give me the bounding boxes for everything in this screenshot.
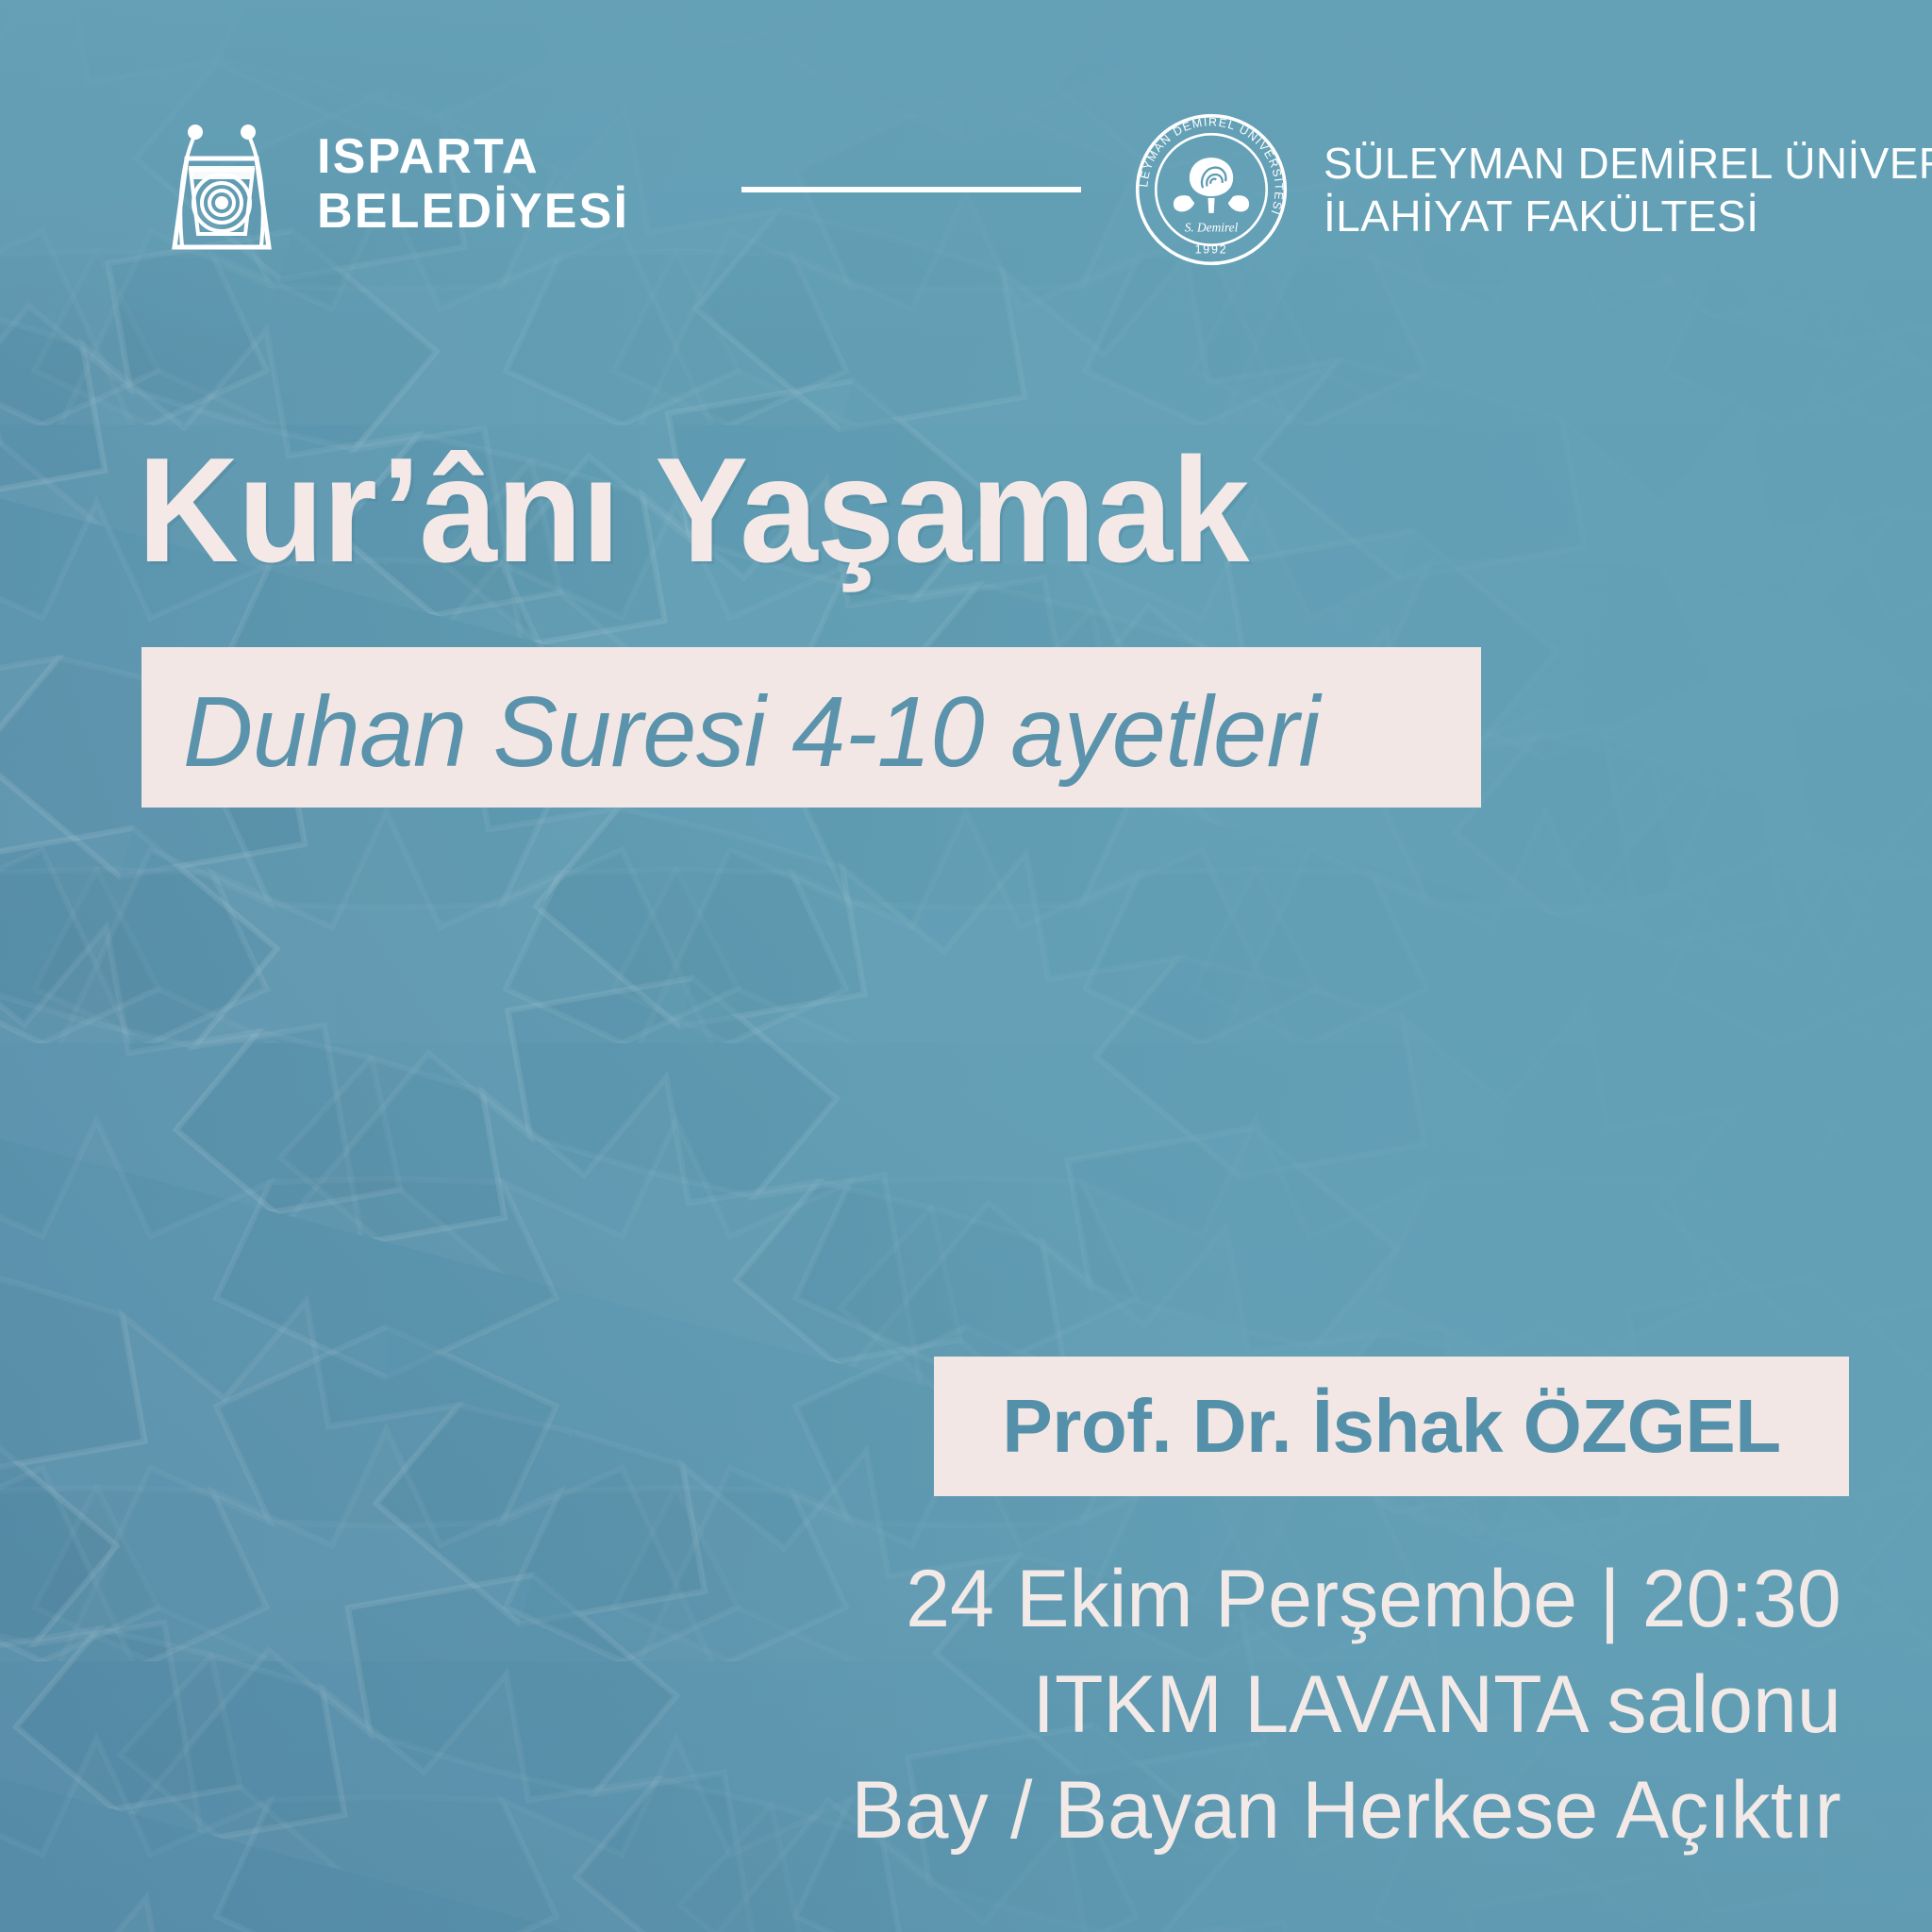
sdu-logo-line1: SÜLEYMAN DEMİREL ÜNİVERSİTESİ: [1324, 137, 1932, 190]
isparta-belediyesi-logo: ISPARTA BELEDİYESİ: [151, 113, 629, 255]
isparta-rose-emblem-icon: [151, 113, 292, 255]
speaker-band: Prof. Dr. İshak ÖZGEL: [934, 1357, 1849, 1496]
speaker-name: Prof. Dr. İshak ÖZGEL: [934, 1357, 1849, 1496]
event-datetime: 24 Ekim Perşembe | 20:30: [852, 1547, 1841, 1653]
sdu-rose-seal-icon: SÜLEYMAN DEMİREL ÜNİVERSİTESİ: [1127, 106, 1295, 274]
event-details: 24 Ekim Perşembe | 20:30 ITKM LAVANTA sa…: [831, 1547, 1841, 1863]
poster-header: ISPARTA BELEDİYESİ SÜLEYMAN DEMİREL ÜNİV…: [0, 106, 1932, 275]
svg-text:S. Demirel: S. Demirel: [1185, 221, 1239, 235]
sdu-logo-line2: İLAHİYAT FAKÜLTESİ: [1324, 190, 1932, 242]
sdu-logo-wordmark: SÜLEYMAN DEMİREL ÜNİVERSİTESİ İLAHİYAT F…: [1324, 137, 1932, 242]
subtitle-band: Duhan Suresi 4-10 ayetleri: [142, 647, 1481, 808]
event-poster: ISPARTA BELEDİYESİ SÜLEYMAN DEMİREL ÜNİV…: [0, 0, 1932, 1932]
header-divider-line: [741, 187, 1081, 192]
isparta-logo-wordmark: ISPARTA BELEDİYESİ: [317, 129, 629, 239]
event-venue: ITKM LAVANTA salonu: [852, 1653, 1841, 1758]
event-audience: Bay / Bayan Herkese Açıktır: [852, 1758, 1841, 1864]
isparta-logo-line1: ISPARTA: [317, 129, 629, 184]
svg-text:1992: 1992: [1195, 243, 1228, 257]
sdu-ilahiyat-logo: SÜLEYMAN DEMİREL ÜNİVERSİTESİ: [1127, 106, 1932, 274]
poster-title: Kur’ânı Yaşamak: [138, 436, 1249, 585]
isparta-logo-line2: BELEDİYESİ: [317, 184, 629, 239]
poster-subtitle: Duhan Suresi 4-10 ayetleri: [183, 675, 1320, 790]
